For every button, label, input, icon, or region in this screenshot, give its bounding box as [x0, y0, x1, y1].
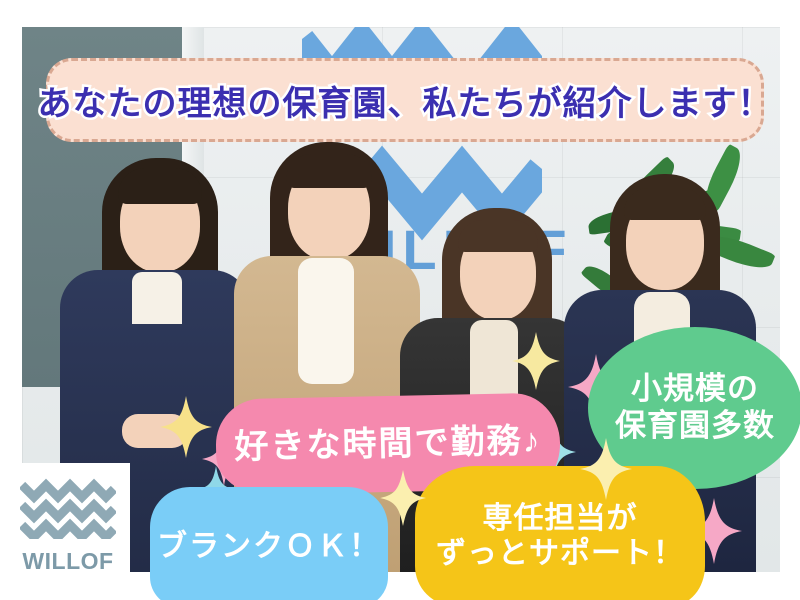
advertisement-canvas: WILLOF — [0, 0, 800, 600]
badge-blank-ok: ブランクＯＫ！ — [150, 487, 388, 600]
willof-wordmark: WILLOF — [22, 548, 113, 575]
headline-banner: あなたの理想の保育園、私たちが紹介します！ — [46, 58, 764, 142]
willof-zigzag-mark-icon — [20, 477, 116, 544]
badge-green-line1: 小規模の — [615, 371, 775, 408]
spark-cream-yellow-blob-icon — [580, 438, 632, 500]
badge-green-line2: 保育園多数 — [615, 408, 775, 445]
badge-pink-line1: 好きな時間で勤務♪ — [234, 421, 542, 468]
badge-yellow-line2: ずっとサポート！ — [436, 536, 684, 571]
badge-dedicated-support: 専任担当が ずっとサポート！ — [415, 466, 705, 600]
headline-text: あなたの理想の保育園、私たちが紹介します！ — [38, 76, 773, 125]
spark-cream-blue-blob-icon — [380, 470, 426, 526]
badge-blue-line1: ブランクＯＫ！ — [157, 529, 381, 564]
willof-logo-card: WILLOF — [6, 463, 130, 589]
badge-yellow-line1: 専任担当が — [436, 501, 684, 536]
frame-margin-right — [780, 0, 800, 600]
frame-margin-top — [0, 0, 800, 27]
spark-yellow-mid-icon — [512, 332, 560, 390]
